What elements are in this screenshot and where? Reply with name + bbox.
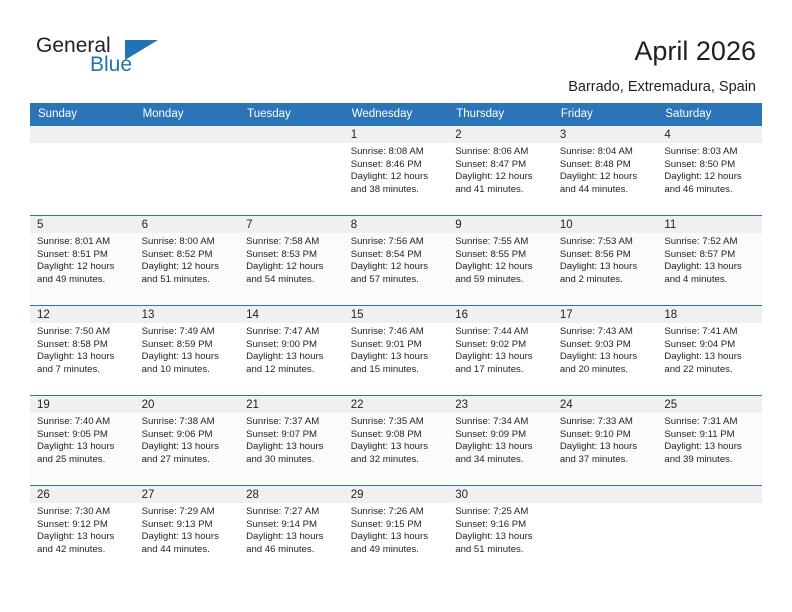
calendar-day-cell[interactable]: 20Sunrise: 7:38 AMSunset: 9:06 PMDayligh… — [135, 395, 240, 485]
day-detail-line: and 44 minutes. — [560, 184, 652, 197]
day-detail-line: Sunset: 8:59 PM — [142, 339, 234, 352]
day-detail-line: and 20 minutes. — [560, 364, 652, 377]
day-number: 4 — [657, 126, 762, 143]
day-sun-details — [553, 503, 658, 506]
calendar-page: General Blue April 2026 Barrado, Extrema… — [0, 0, 792, 612]
day-detail-line: Sunrise: 7:25 AM — [455, 506, 547, 519]
day-detail-line: and 51 minutes. — [142, 274, 234, 287]
day-detail-line: and 32 minutes. — [351, 454, 443, 467]
day-detail-line: and 2 minutes. — [560, 274, 652, 287]
day-cell-inner: 15Sunrise: 7:46 AMSunset: 9:01 PMDayligh… — [344, 305, 449, 395]
day-number: 3 — [553, 126, 658, 143]
day-detail-line: Daylight: 12 hours — [142, 261, 234, 274]
day-detail-line: Sunrise: 7:33 AM — [560, 416, 652, 429]
day-detail-line: and 37 minutes. — [560, 454, 652, 467]
day-sun-details: Sunrise: 7:41 AMSunset: 9:04 PMDaylight:… — [657, 323, 762, 376]
calendar-day-cell-empty — [657, 485, 762, 575]
day-cell-inner: 7Sunrise: 7:58 AMSunset: 8:53 PMDaylight… — [239, 215, 344, 305]
day-sun-details: Sunrise: 7:31 AMSunset: 9:11 PMDaylight:… — [657, 413, 762, 466]
day-detail-line: Sunset: 9:15 PM — [351, 519, 443, 532]
day-sun-details: Sunrise: 7:33 AMSunset: 9:10 PMDaylight:… — [553, 413, 658, 466]
day-number — [553, 486, 658, 503]
calendar-week-row: 12Sunrise: 7:50 AMSunset: 8:58 PMDayligh… — [30, 305, 762, 395]
weekday-header-friday: Friday — [553, 103, 658, 125]
day-detail-line: and 49 minutes. — [351, 544, 443, 557]
day-detail-line: Daylight: 13 hours — [664, 261, 756, 274]
day-number: 21 — [239, 396, 344, 413]
day-number: 5 — [30, 216, 135, 233]
day-detail-line: Sunset: 9:13 PM — [142, 519, 234, 532]
day-number: 22 — [344, 396, 449, 413]
day-cell-inner: 13Sunrise: 7:49 AMSunset: 8:59 PMDayligh… — [135, 305, 240, 395]
logo-text-blue: Blue — [90, 53, 132, 77]
day-detail-line: Sunrise: 7:47 AM — [246, 326, 338, 339]
day-detail-line: Daylight: 12 hours — [246, 261, 338, 274]
day-number: 11 — [657, 216, 762, 233]
day-sun-details: Sunrise: 7:52 AMSunset: 8:57 PMDaylight:… — [657, 233, 762, 286]
day-detail-line: Daylight: 13 hours — [455, 351, 547, 364]
day-detail-line: Daylight: 12 hours — [351, 171, 443, 184]
day-detail-line: and 22 minutes. — [664, 364, 756, 377]
day-detail-line: Sunset: 9:04 PM — [664, 339, 756, 352]
calendar-day-cell[interactable]: 14Sunrise: 7:47 AMSunset: 9:00 PMDayligh… — [239, 305, 344, 395]
calendar-day-cell[interactable]: 28Sunrise: 7:27 AMSunset: 9:14 PMDayligh… — [239, 485, 344, 575]
day-number: 27 — [135, 486, 240, 503]
day-detail-line: Sunset: 9:03 PM — [560, 339, 652, 352]
day-detail-line: and 4 minutes. — [664, 274, 756, 287]
day-cell-inner: 27Sunrise: 7:29 AMSunset: 9:13 PMDayligh… — [135, 485, 240, 575]
calendar-day-cell[interactable]: 2Sunrise: 8:06 AMSunset: 8:47 PMDaylight… — [448, 125, 553, 215]
day-detail-line: Sunset: 9:10 PM — [560, 429, 652, 442]
day-number: 2 — [448, 126, 553, 143]
day-sun-details: Sunrise: 7:44 AMSunset: 9:02 PMDaylight:… — [448, 323, 553, 376]
day-detail-line: Sunrise: 7:44 AM — [455, 326, 547, 339]
day-cell-inner: 19Sunrise: 7:40 AMSunset: 9:05 PMDayligh… — [30, 395, 135, 485]
calendar-day-cell[interactable]: 11Sunrise: 7:52 AMSunset: 8:57 PMDayligh… — [657, 215, 762, 305]
day-cell-inner: 4Sunrise: 8:03 AMSunset: 8:50 PMDaylight… — [657, 125, 762, 215]
day-detail-line: Daylight: 13 hours — [455, 531, 547, 544]
day-cell-inner: 10Sunrise: 7:53 AMSunset: 8:56 PMDayligh… — [553, 215, 658, 305]
day-detail-line: Sunset: 9:06 PM — [142, 429, 234, 442]
day-sun-details: Sunrise: 7:27 AMSunset: 9:14 PMDaylight:… — [239, 503, 344, 556]
location-subtitle: Barrado, Extremadura, Spain — [568, 79, 756, 95]
day-detail-line: Sunset: 9:16 PM — [455, 519, 547, 532]
day-sun-details: Sunrise: 7:38 AMSunset: 9:06 PMDaylight:… — [135, 413, 240, 466]
day-cell-inner: 21Sunrise: 7:37 AMSunset: 9:07 PMDayligh… — [239, 395, 344, 485]
day-sun-details — [135, 143, 240, 146]
day-detail-line: Daylight: 13 hours — [37, 531, 129, 544]
day-sun-details: Sunrise: 7:55 AMSunset: 8:55 PMDaylight:… — [448, 233, 553, 286]
day-detail-line: and 10 minutes. — [142, 364, 234, 377]
sunrise-sunset-calendar: Sunday Monday Tuesday Wednesday Thursday… — [30, 103, 762, 575]
calendar-week-row: 1Sunrise: 8:08 AMSunset: 8:46 PMDaylight… — [30, 125, 762, 215]
calendar-day-cell[interactable]: 17Sunrise: 7:43 AMSunset: 9:03 PMDayligh… — [553, 305, 658, 395]
weekday-header-tuesday: Tuesday — [239, 103, 344, 125]
day-detail-line: Sunset: 9:11 PM — [664, 429, 756, 442]
day-cell-inner: 6Sunrise: 8:00 AMSunset: 8:52 PMDaylight… — [135, 215, 240, 305]
day-detail-line: Daylight: 12 hours — [351, 261, 443, 274]
day-sun-details: Sunrise: 8:08 AMSunset: 8:46 PMDaylight:… — [344, 143, 449, 196]
day-detail-line: Daylight: 13 hours — [142, 531, 234, 544]
day-detail-line: Daylight: 13 hours — [142, 441, 234, 454]
day-number — [135, 126, 240, 143]
day-detail-line: and 25 minutes. — [37, 454, 129, 467]
day-sun-details: Sunrise: 7:40 AMSunset: 9:05 PMDaylight:… — [30, 413, 135, 466]
weekday-header-sunday: Sunday — [30, 103, 135, 125]
day-detail-line: Sunset: 9:00 PM — [246, 339, 338, 352]
calendar-day-cell-empty — [553, 485, 658, 575]
day-detail-line: Sunset: 8:48 PM — [560, 159, 652, 172]
day-detail-line: and 59 minutes. — [455, 274, 547, 287]
day-number: 29 — [344, 486, 449, 503]
day-detail-line: Sunrise: 7:56 AM — [351, 236, 443, 249]
day-detail-line: Sunset: 9:14 PM — [246, 519, 338, 532]
day-cell-inner: 3Sunrise: 8:04 AMSunset: 8:48 PMDaylight… — [553, 125, 658, 215]
day-number: 8 — [344, 216, 449, 233]
weekday-header-thursday: Thursday — [448, 103, 553, 125]
calendar-day-cell[interactable]: 22Sunrise: 7:35 AMSunset: 9:08 PMDayligh… — [344, 395, 449, 485]
day-detail-line: Sunset: 9:05 PM — [37, 429, 129, 442]
day-detail-line: Daylight: 12 hours — [560, 171, 652, 184]
day-detail-line: Sunset: 9:09 PM — [455, 429, 547, 442]
calendar-day-cell[interactable]: 6Sunrise: 8:00 AMSunset: 8:52 PMDaylight… — [135, 215, 240, 305]
day-detail-line: Daylight: 13 hours — [246, 351, 338, 364]
day-detail-line: Daylight: 13 hours — [351, 351, 443, 364]
weekday-header-wednesday: Wednesday — [344, 103, 449, 125]
day-sun-details: Sunrise: 8:01 AMSunset: 8:51 PMDaylight:… — [30, 233, 135, 286]
day-detail-line: Daylight: 13 hours — [37, 441, 129, 454]
day-detail-line: Daylight: 13 hours — [664, 351, 756, 364]
day-number: 28 — [239, 486, 344, 503]
day-detail-line: Daylight: 12 hours — [664, 171, 756, 184]
day-detail-line: and 42 minutes. — [37, 544, 129, 557]
day-detail-line: Sunrise: 7:53 AM — [560, 236, 652, 249]
calendar-day-cell[interactable]: 21Sunrise: 7:37 AMSunset: 9:07 PMDayligh… — [239, 395, 344, 485]
calendar-body: 1Sunrise: 8:08 AMSunset: 8:46 PMDaylight… — [30, 125, 762, 575]
day-cell-inner — [30, 125, 135, 215]
day-detail-line: Sunrise: 7:58 AM — [246, 236, 338, 249]
day-detail-line: Sunset: 8:46 PM — [351, 159, 443, 172]
day-detail-line: Sunrise: 7:31 AM — [664, 416, 756, 429]
day-cell-inner — [657, 485, 762, 575]
calendar-day-cell[interactable]: 24Sunrise: 7:33 AMSunset: 9:10 PMDayligh… — [553, 395, 658, 485]
day-detail-line: Daylight: 13 hours — [560, 441, 652, 454]
calendar-day-cell[interactable]: 16Sunrise: 7:44 AMSunset: 9:02 PMDayligh… — [448, 305, 553, 395]
general-blue-logo[interactable]: General Blue — [36, 34, 166, 82]
day-detail-line: Sunrise: 7:34 AM — [455, 416, 547, 429]
day-cell-inner: 12Sunrise: 7:50 AMSunset: 8:58 PMDayligh… — [30, 305, 135, 395]
day-sun-details: Sunrise: 7:35 AMSunset: 9:08 PMDaylight:… — [344, 413, 449, 466]
day-detail-line: Sunrise: 8:06 AM — [455, 146, 547, 159]
day-detail-line: Sunrise: 7:46 AM — [351, 326, 443, 339]
calendar-day-cell[interactable]: 5Sunrise: 8:01 AMSunset: 8:51 PMDaylight… — [30, 215, 135, 305]
day-detail-line: Sunset: 9:02 PM — [455, 339, 547, 352]
day-sun-details — [30, 143, 135, 146]
day-cell-inner: 24Sunrise: 7:33 AMSunset: 9:10 PMDayligh… — [553, 395, 658, 485]
day-detail-line: Sunrise: 7:30 AM — [37, 506, 129, 519]
day-detail-line: Sunrise: 7:43 AM — [560, 326, 652, 339]
day-detail-line: and 34 minutes. — [455, 454, 547, 467]
day-number: 14 — [239, 306, 344, 323]
day-cell-inner — [239, 125, 344, 215]
day-detail-line: Sunrise: 7:37 AM — [246, 416, 338, 429]
day-sun-details: Sunrise: 7:30 AMSunset: 9:12 PMDaylight:… — [30, 503, 135, 556]
calendar-day-cell[interactable]: 15Sunrise: 7:46 AMSunset: 9:01 PMDayligh… — [344, 305, 449, 395]
day-detail-line: Sunrise: 8:03 AM — [664, 146, 756, 159]
weekday-header-saturday: Saturday — [657, 103, 762, 125]
calendar-day-cell[interactable]: 23Sunrise: 7:34 AMSunset: 9:09 PMDayligh… — [448, 395, 553, 485]
day-detail-line: Sunset: 8:55 PM — [455, 249, 547, 262]
day-number: 18 — [657, 306, 762, 323]
day-detail-line: and 39 minutes. — [664, 454, 756, 467]
day-cell-inner — [135, 125, 240, 215]
day-detail-line: Sunset: 9:07 PM — [246, 429, 338, 442]
calendar-day-cell[interactable]: 12Sunrise: 7:50 AMSunset: 8:58 PMDayligh… — [30, 305, 135, 395]
day-detail-line: Sunset: 8:47 PM — [455, 159, 547, 172]
day-cell-inner: 17Sunrise: 7:43 AMSunset: 9:03 PMDayligh… — [553, 305, 658, 395]
day-detail-line: and 41 minutes. — [455, 184, 547, 197]
weekday-header-monday: Monday — [135, 103, 240, 125]
day-number: 13 — [135, 306, 240, 323]
day-sun-details: Sunrise: 7:26 AMSunset: 9:15 PMDaylight:… — [344, 503, 449, 556]
day-number: 17 — [553, 306, 658, 323]
day-number — [657, 486, 762, 503]
calendar-day-cell[interactable]: 30Sunrise: 7:25 AMSunset: 9:16 PMDayligh… — [448, 485, 553, 575]
day-number: 30 — [448, 486, 553, 503]
day-number — [239, 126, 344, 143]
day-detail-line: Sunrise: 7:38 AM — [142, 416, 234, 429]
day-sun-details: Sunrise: 8:03 AMSunset: 8:50 PMDaylight:… — [657, 143, 762, 196]
day-detail-line: Daylight: 13 hours — [246, 531, 338, 544]
day-detail-line: Sunrise: 7:50 AM — [37, 326, 129, 339]
weekday-header-row: Sunday Monday Tuesday Wednesday Thursday… — [30, 103, 762, 125]
day-detail-line: Sunset: 8:51 PM — [37, 249, 129, 262]
calendar-day-cell[interactable]: 9Sunrise: 7:55 AMSunset: 8:55 PMDaylight… — [448, 215, 553, 305]
day-cell-inner: 9Sunrise: 7:55 AMSunset: 8:55 PMDaylight… — [448, 215, 553, 305]
calendar-day-cell[interactable]: 13Sunrise: 7:49 AMSunset: 8:59 PMDayligh… — [135, 305, 240, 395]
day-cell-inner: 8Sunrise: 7:56 AMSunset: 8:54 PMDaylight… — [344, 215, 449, 305]
day-detail-line: Sunset: 9:01 PM — [351, 339, 443, 352]
day-detail-line: Sunrise: 7:27 AM — [246, 506, 338, 519]
day-cell-inner: 23Sunrise: 7:34 AMSunset: 9:09 PMDayligh… — [448, 395, 553, 485]
day-detail-line: Sunrise: 7:52 AM — [664, 236, 756, 249]
day-detail-line: Sunset: 8:52 PM — [142, 249, 234, 262]
day-cell-inner: 16Sunrise: 7:44 AMSunset: 9:02 PMDayligh… — [448, 305, 553, 395]
day-detail-line: and 30 minutes. — [246, 454, 338, 467]
day-detail-line: Daylight: 13 hours — [560, 261, 652, 274]
day-detail-line: Daylight: 12 hours — [455, 171, 547, 184]
day-cell-inner: 25Sunrise: 7:31 AMSunset: 9:11 PMDayligh… — [657, 395, 762, 485]
calendar-day-cell[interactable]: 18Sunrise: 7:41 AMSunset: 9:04 PMDayligh… — [657, 305, 762, 395]
day-number: 9 — [448, 216, 553, 233]
day-detail-line: and 49 minutes. — [37, 274, 129, 287]
day-detail-line: Daylight: 13 hours — [37, 351, 129, 364]
day-detail-line: and 15 minutes. — [351, 364, 443, 377]
day-number: 24 — [553, 396, 658, 413]
day-detail-line: and 54 minutes. — [246, 274, 338, 287]
day-number: 16 — [448, 306, 553, 323]
day-number: 15 — [344, 306, 449, 323]
day-cell-inner: 18Sunrise: 7:41 AMSunset: 9:04 PMDayligh… — [657, 305, 762, 395]
day-sun-details: Sunrise: 7:50 AMSunset: 8:58 PMDaylight:… — [30, 323, 135, 376]
day-detail-line: Sunrise: 8:08 AM — [351, 146, 443, 159]
day-sun-details: Sunrise: 7:49 AMSunset: 8:59 PMDaylight:… — [135, 323, 240, 376]
day-sun-details: Sunrise: 7:43 AMSunset: 9:03 PMDaylight:… — [553, 323, 658, 376]
day-detail-line: Sunset: 9:08 PM — [351, 429, 443, 442]
calendar-day-cell-empty — [135, 125, 240, 215]
day-detail-line: Sunrise: 7:29 AM — [142, 506, 234, 519]
day-number: 12 — [30, 306, 135, 323]
day-detail-line: Daylight: 13 hours — [455, 441, 547, 454]
day-cell-inner: 26Sunrise: 7:30 AMSunset: 9:12 PMDayligh… — [30, 485, 135, 575]
day-sun-details: Sunrise: 7:29 AMSunset: 9:13 PMDaylight:… — [135, 503, 240, 556]
day-number: 7 — [239, 216, 344, 233]
day-detail-line: Daylight: 12 hours — [37, 261, 129, 274]
day-detail-line: and 27 minutes. — [142, 454, 234, 467]
calendar-week-row: 26Sunrise: 7:30 AMSunset: 9:12 PMDayligh… — [30, 485, 762, 575]
day-detail-line: Sunrise: 7:40 AM — [37, 416, 129, 429]
day-detail-line: Sunrise: 7:55 AM — [455, 236, 547, 249]
day-detail-line: Sunrise: 8:01 AM — [37, 236, 129, 249]
day-number — [30, 126, 135, 143]
calendar-day-cell[interactable]: 10Sunrise: 7:53 AMSunset: 8:56 PMDayligh… — [553, 215, 658, 305]
day-detail-line: and 17 minutes. — [455, 364, 547, 377]
calendar-day-cell[interactable]: 8Sunrise: 7:56 AMSunset: 8:54 PMDaylight… — [344, 215, 449, 305]
day-detail-line: and 46 minutes. — [664, 184, 756, 197]
day-number: 23 — [448, 396, 553, 413]
day-sun-details: Sunrise: 7:47 AMSunset: 9:00 PMDaylight:… — [239, 323, 344, 376]
day-number: 19 — [30, 396, 135, 413]
day-number: 26 — [30, 486, 135, 503]
calendar-day-cell-empty — [30, 125, 135, 215]
day-cell-inner: 11Sunrise: 7:52 AMSunset: 8:57 PMDayligh… — [657, 215, 762, 305]
calendar-day-cell[interactable]: 7Sunrise: 7:58 AMSunset: 8:53 PMDaylight… — [239, 215, 344, 305]
day-sun-details: Sunrise: 7:53 AMSunset: 8:56 PMDaylight:… — [553, 233, 658, 286]
calendar-week-row: 5Sunrise: 8:01 AMSunset: 8:51 PMDaylight… — [30, 215, 762, 305]
day-detail-line: and 12 minutes. — [246, 364, 338, 377]
day-cell-inner: 20Sunrise: 7:38 AMSunset: 9:06 PMDayligh… — [135, 395, 240, 485]
day-detail-line: and 38 minutes. — [351, 184, 443, 197]
day-detail-line: Daylight: 13 hours — [351, 531, 443, 544]
day-sun-details: Sunrise: 7:58 AMSunset: 8:53 PMDaylight:… — [239, 233, 344, 286]
day-detail-line: Sunrise: 7:35 AM — [351, 416, 443, 429]
calendar-day-cell[interactable]: 3Sunrise: 8:04 AMSunset: 8:48 PMDaylight… — [553, 125, 658, 215]
day-detail-line: Sunrise: 7:26 AM — [351, 506, 443, 519]
day-number: 10 — [553, 216, 658, 233]
day-number: 25 — [657, 396, 762, 413]
day-detail-line: Sunrise: 7:41 AM — [664, 326, 756, 339]
day-sun-details: Sunrise: 7:46 AMSunset: 9:01 PMDaylight:… — [344, 323, 449, 376]
calendar-day-cell-empty — [239, 125, 344, 215]
day-detail-line: Sunset: 8:50 PM — [664, 159, 756, 172]
day-detail-line: Daylight: 12 hours — [455, 261, 547, 274]
calendar-day-cell[interactable]: 1Sunrise: 8:08 AMSunset: 8:46 PMDaylight… — [344, 125, 449, 215]
day-detail-line: Sunrise: 8:00 AM — [142, 236, 234, 249]
day-number: 1 — [344, 126, 449, 143]
day-detail-line: Daylight: 13 hours — [142, 351, 234, 364]
day-detail-line: Daylight: 13 hours — [246, 441, 338, 454]
calendar-day-cell[interactable]: 29Sunrise: 7:26 AMSunset: 9:15 PMDayligh… — [344, 485, 449, 575]
page-header: General Blue April 2026 Barrado, Extrema… — [0, 0, 792, 103]
day-cell-inner: 22Sunrise: 7:35 AMSunset: 9:08 PMDayligh… — [344, 395, 449, 485]
day-detail-line: and 7 minutes. — [37, 364, 129, 377]
day-detail-line: Daylight: 13 hours — [560, 351, 652, 364]
day-detail-line: Daylight: 13 hours — [351, 441, 443, 454]
page-title: April 2026 — [634, 36, 756, 67]
calendar-day-cell[interactable]: 4Sunrise: 8:03 AMSunset: 8:50 PMDaylight… — [657, 125, 762, 215]
calendar-day-cell[interactable]: 26Sunrise: 7:30 AMSunset: 9:12 PMDayligh… — [30, 485, 135, 575]
day-detail-line: and 46 minutes. — [246, 544, 338, 557]
day-detail-line: and 44 minutes. — [142, 544, 234, 557]
day-sun-details: Sunrise: 8:06 AMSunset: 8:47 PMDaylight:… — [448, 143, 553, 196]
calendar-day-cell[interactable]: 25Sunrise: 7:31 AMSunset: 9:11 PMDayligh… — [657, 395, 762, 485]
day-cell-inner — [553, 485, 658, 575]
day-number: 6 — [135, 216, 240, 233]
day-sun-details: Sunrise: 7:56 AMSunset: 8:54 PMDaylight:… — [344, 233, 449, 286]
day-sun-details — [239, 143, 344, 146]
day-sun-details: Sunrise: 7:37 AMSunset: 9:07 PMDaylight:… — [239, 413, 344, 466]
day-detail-line: and 57 minutes. — [351, 274, 443, 287]
day-cell-inner: 5Sunrise: 8:01 AMSunset: 8:51 PMDaylight… — [30, 215, 135, 305]
day-sun-details: Sunrise: 7:34 AMSunset: 9:09 PMDaylight:… — [448, 413, 553, 466]
day-cell-inner: 29Sunrise: 7:26 AMSunset: 9:15 PMDayligh… — [344, 485, 449, 575]
day-detail-line: Sunset: 8:57 PM — [664, 249, 756, 262]
calendar-day-cell[interactable]: 27Sunrise: 7:29 AMSunset: 9:13 PMDayligh… — [135, 485, 240, 575]
day-detail-line: Sunrise: 7:49 AM — [142, 326, 234, 339]
day-cell-inner: 28Sunrise: 7:27 AMSunset: 9:14 PMDayligh… — [239, 485, 344, 575]
day-sun-details: Sunrise: 7:25 AMSunset: 9:16 PMDaylight:… — [448, 503, 553, 556]
day-number: 20 — [135, 396, 240, 413]
day-cell-inner: 30Sunrise: 7:25 AMSunset: 9:16 PMDayligh… — [448, 485, 553, 575]
day-cell-inner: 14Sunrise: 7:47 AMSunset: 9:00 PMDayligh… — [239, 305, 344, 395]
calendar-day-cell[interactable]: 19Sunrise: 7:40 AMSunset: 9:05 PMDayligh… — [30, 395, 135, 485]
day-cell-inner: 2Sunrise: 8:06 AMSunset: 8:47 PMDaylight… — [448, 125, 553, 215]
day-detail-line: and 51 minutes. — [455, 544, 547, 557]
day-sun-details — [657, 503, 762, 506]
day-detail-line: Sunset: 8:54 PM — [351, 249, 443, 262]
day-detail-line: Sunset: 8:58 PM — [37, 339, 129, 352]
day-sun-details: Sunrise: 8:00 AMSunset: 8:52 PMDaylight:… — [135, 233, 240, 286]
day-detail-line: Sunset: 8:53 PM — [246, 249, 338, 262]
day-detail-line: Sunset: 8:56 PM — [560, 249, 652, 262]
day-cell-inner: 1Sunrise: 8:08 AMSunset: 8:46 PMDaylight… — [344, 125, 449, 215]
day-sun-details: Sunrise: 8:04 AMSunset: 8:48 PMDaylight:… — [553, 143, 658, 196]
day-detail-line: Sunset: 9:12 PM — [37, 519, 129, 532]
day-detail-line: Daylight: 13 hours — [664, 441, 756, 454]
calendar-week-row: 19Sunrise: 7:40 AMSunset: 9:05 PMDayligh… — [30, 395, 762, 485]
day-detail-line: Sunrise: 8:04 AM — [560, 146, 652, 159]
